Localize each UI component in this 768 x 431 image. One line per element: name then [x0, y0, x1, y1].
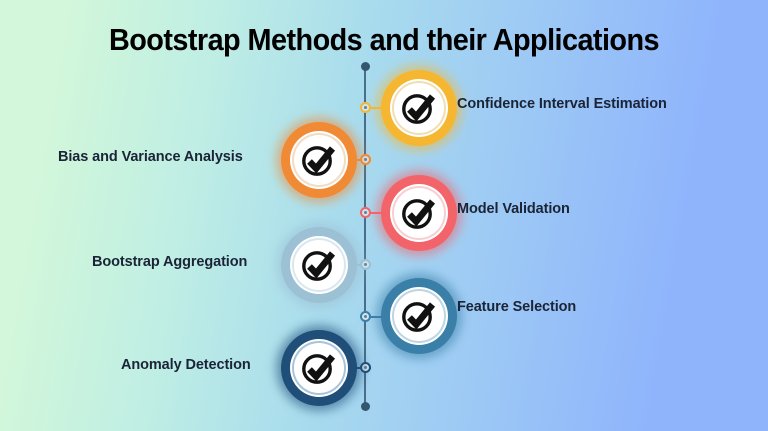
node-check-wrap — [281, 330, 357, 406]
node-icon-6[interactable] — [281, 330, 357, 406]
node-check-wrap — [381, 70, 457, 146]
check-circle-icon — [297, 243, 341, 287]
node-icon-5[interactable] — [381, 278, 457, 354]
spine-node-dot-1[interactable] — [360, 102, 371, 113]
node-icon-1[interactable] — [381, 70, 457, 146]
timeline-spine — [364, 66, 366, 406]
spine-cap-bottom — [361, 402, 370, 411]
node-check-wrap — [381, 278, 457, 354]
node-label-1: Confidence Interval Estimation — [457, 97, 667, 112]
node-icon-3[interactable] — [381, 175, 457, 251]
node-check-wrap — [381, 175, 457, 251]
node-label-3: Model Validation — [457, 202, 570, 217]
spine-cap-top — [361, 62, 370, 71]
node-label-5: Feature Selection — [457, 300, 576, 315]
node-check-wrap — [281, 122, 357, 198]
check-circle-icon — [297, 346, 341, 390]
node-icon-2[interactable] — [281, 122, 357, 198]
node-check-wrap — [281, 227, 357, 303]
node-label-2: Bias and Variance Analysis — [58, 150, 243, 165]
node-icon-4[interactable] — [281, 227, 357, 303]
infographic-canvas: Bootstrap Methods and their Applications… — [0, 0, 768, 431]
check-circle-icon — [297, 138, 341, 182]
spine-node-dot-5[interactable] — [360, 311, 371, 322]
spine-node-dot-3[interactable] — [360, 207, 371, 218]
check-circle-icon — [397, 191, 441, 235]
page-title: Bootstrap Methods and their Applications — [27, 22, 741, 58]
check-circle-icon — [397, 86, 441, 130]
node-label-4: Bootstrap Aggregation — [92, 255, 247, 270]
node-label-6: Anomaly Detection — [121, 358, 251, 373]
check-circle-icon — [397, 294, 441, 338]
